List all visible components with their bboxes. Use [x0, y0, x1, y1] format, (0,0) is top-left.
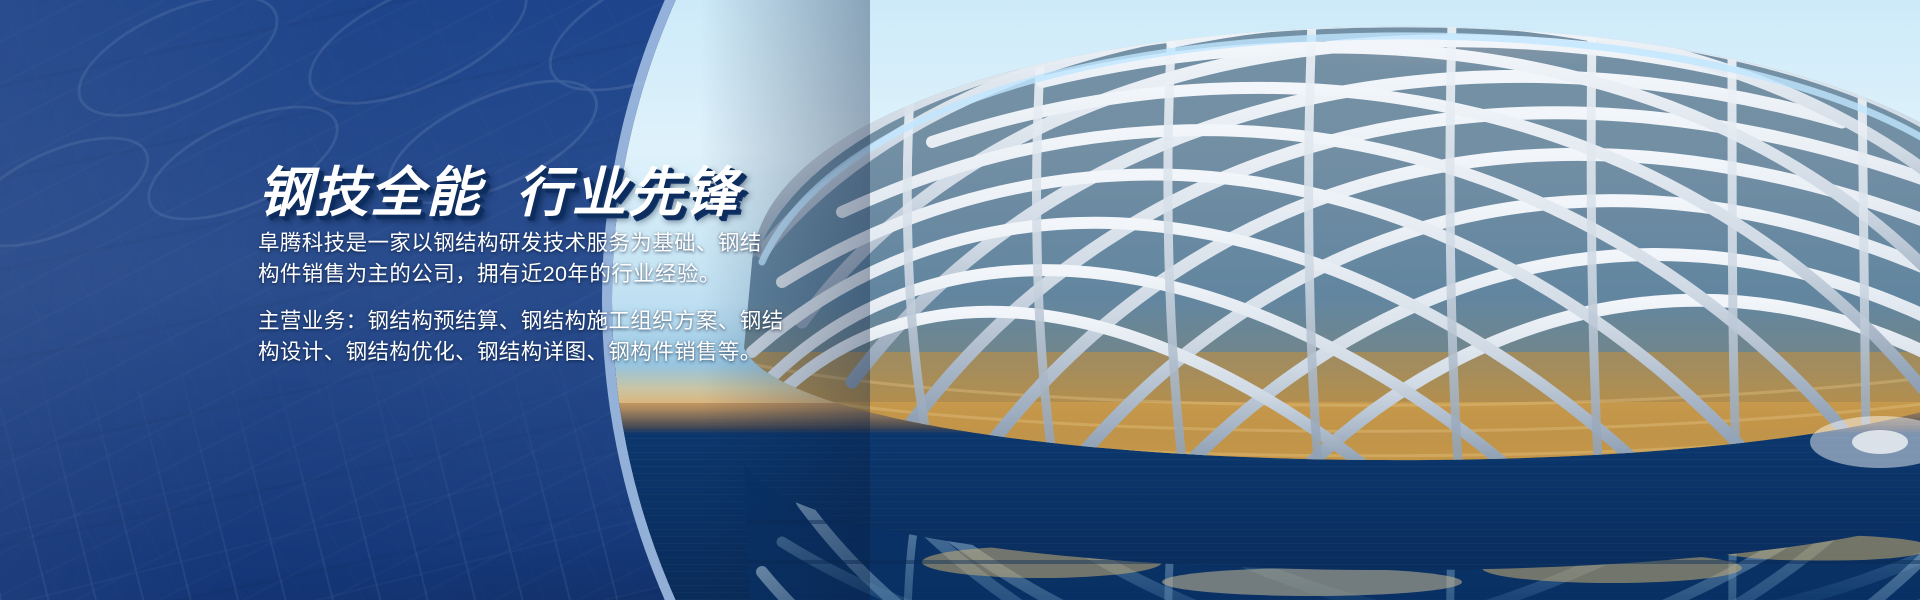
intro-paragraph: 阜腾科技是一家以钢结构研发技术服务为基础、钢结 构件销售为主的公司，拥有近20年…: [258, 228, 778, 290]
page-title: 钢技全能行业先锋: [258, 148, 740, 227]
services-line: 主营业务：钢结构预结算、钢结构施工组织方案、钢结: [258, 306, 778, 337]
headline-part-right: 行业先锋: [516, 163, 740, 223]
banner-content: 钢技全能行业先锋 阜腾科技是一家以钢结构研发技术服务为基础、钢结 构件销售为主的…: [0, 0, 790, 600]
intro-line: 阜腾科技是一家以钢结构研发技术服务为基础、钢结: [258, 228, 778, 259]
circular-photo-frame: [612, 0, 1920, 600]
services-line: 构设计、钢结构优化、钢结构详图、钢构件销售等。: [258, 337, 778, 368]
intro-line: 构件销售为主的公司，拥有近20年的行业经验。: [258, 259, 778, 290]
services-paragraph: 主营业务：钢结构预结算、钢结构施工组织方案、钢结 构设计、钢结构优化、钢结构详图…: [258, 306, 778, 368]
headline-part-left: 钢技全能: [258, 163, 482, 223]
hero-banner: 钢技全能行业先锋 阜腾科技是一家以钢结构研发技术服务为基础、钢结 构件销售为主的…: [0, 0, 1920, 600]
birds-nest-lattice: [612, 0, 1920, 600]
stadium-photo: [612, 0, 1920, 600]
